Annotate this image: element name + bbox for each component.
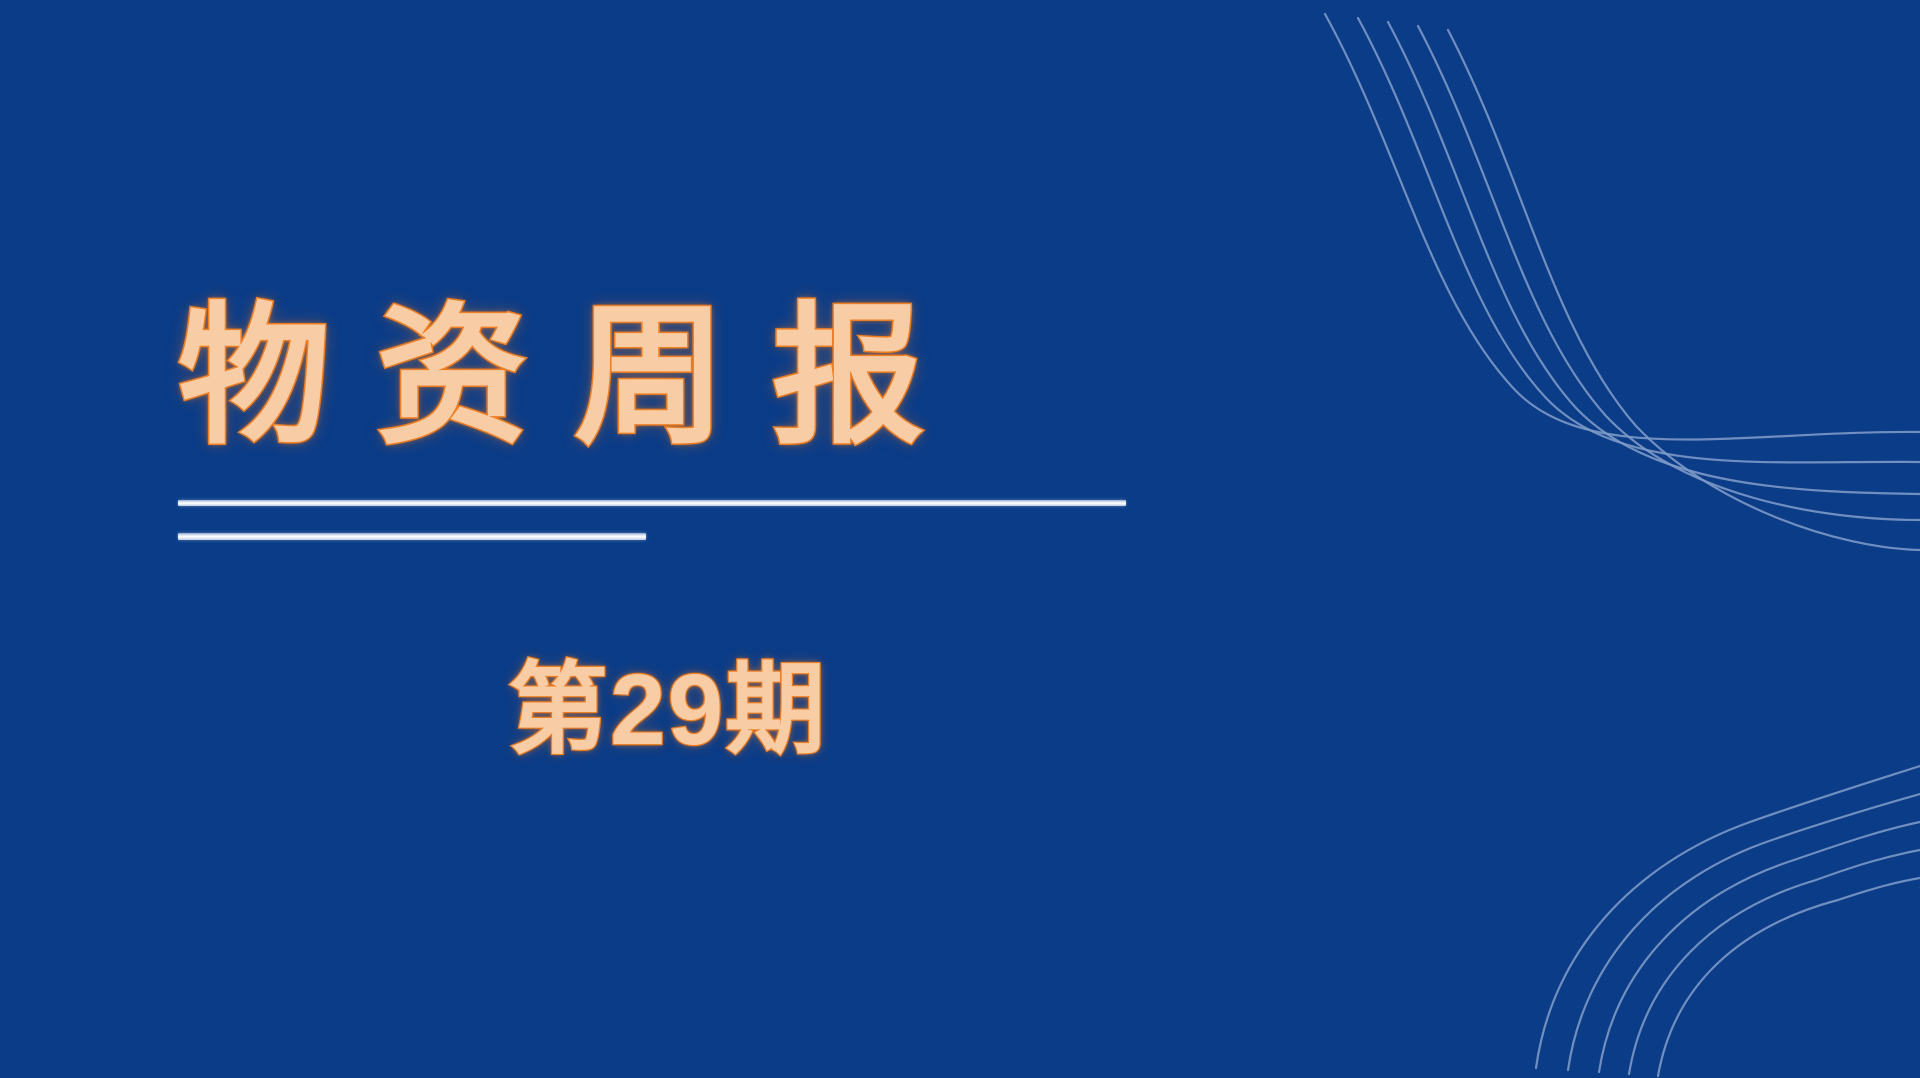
wave-lines-top-right-svg	[1280, 0, 1920, 600]
title-block: 物资周报	[178, 292, 1178, 462]
title-underline-short	[178, 533, 646, 540]
wave-line-3	[1388, 22, 1920, 494]
wave-line-4	[1418, 26, 1920, 520]
arc-line-3	[1599, 822, 1920, 1072]
title-underline-long	[178, 500, 1126, 506]
arc-line-5	[1658, 878, 1920, 1076]
wave-line-1	[1325, 14, 1920, 440]
wave-line-2	[1358, 18, 1920, 462]
arc-line-1	[1536, 766, 1920, 1068]
arc-line-4	[1629, 850, 1920, 1074]
issue-number-label: 第29期	[508, 650, 827, 770]
arc-line-2	[1568, 794, 1920, 1070]
wave-lines-bottom-right-icon	[1500, 718, 1920, 1078]
wave-lines-top-right-icon	[1280, 0, 1920, 600]
page-title: 物资周报	[178, 292, 1178, 462]
wave-line-5	[1448, 30, 1920, 550]
title-slide: 物资周报 第29期	[0, 0, 1920, 1078]
divider-group	[178, 500, 1126, 540]
wave-lines-bottom-right-svg	[1500, 718, 1920, 1078]
